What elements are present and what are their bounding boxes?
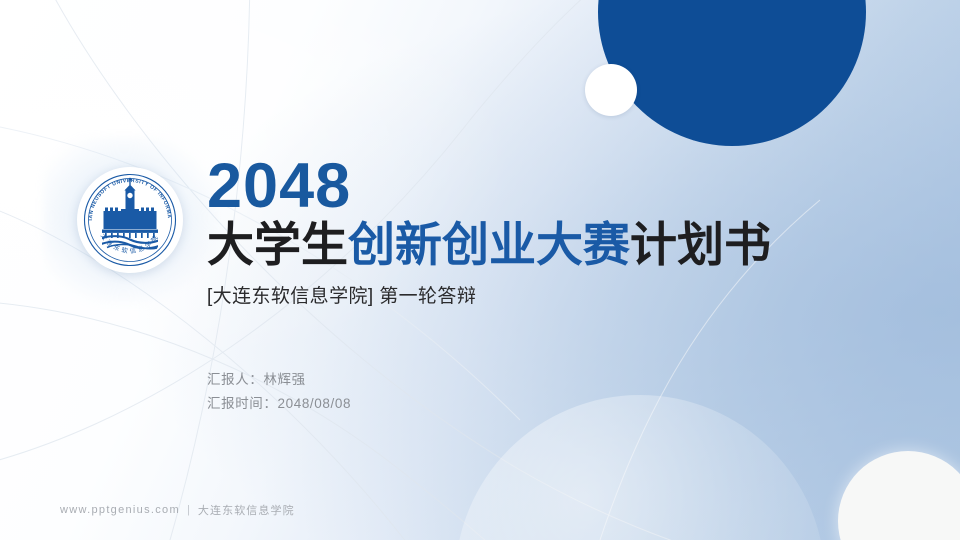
footer: www.pptgenius.com | 大连东软信息学院 [60, 502, 295, 518]
presenter-line: 汇报人：林辉强 [207, 368, 351, 392]
title-part-3: 计划书 [630, 218, 771, 271]
year-heading: 2048 [207, 156, 847, 218]
presentation-title-slide: DALIAN NEUSOFT UNIVERSITY OF INFORMATION… [0, 0, 960, 540]
presentation-meta: 汇报人：林辉强 汇报时间：2048/08/08 [207, 368, 351, 415]
title-block: 2048 大学生创新创业大赛计划书 [大连东软信息学院] 第一轮答辩 [207, 156, 847, 308]
university-seal-icon: DALIAN NEUSOFT UNIVERSITY OF INFORMATION… [77, 167, 183, 273]
decorative-small-white-circle [585, 64, 637, 116]
date-line: 汇报时间：2048/08/08 [207, 392, 351, 416]
page-title: 大学生创新创业大赛计划书 [207, 220, 847, 271]
title-part-2-accent: 创新创业大赛 [348, 218, 630, 271]
footer-org: 大连东软信息学院 [198, 502, 295, 518]
footer-site-url[interactable]: www.pptgenius.com [60, 504, 180, 516]
footer-separator: | [187, 504, 191, 516]
title-part-1: 大学生 [207, 218, 348, 271]
university-logo: DALIAN NEUSOFT UNIVERSITY OF INFORMATION… [69, 159, 191, 281]
subtitle: [大连东软信息学院] 第一轮答辩 [207, 281, 847, 308]
